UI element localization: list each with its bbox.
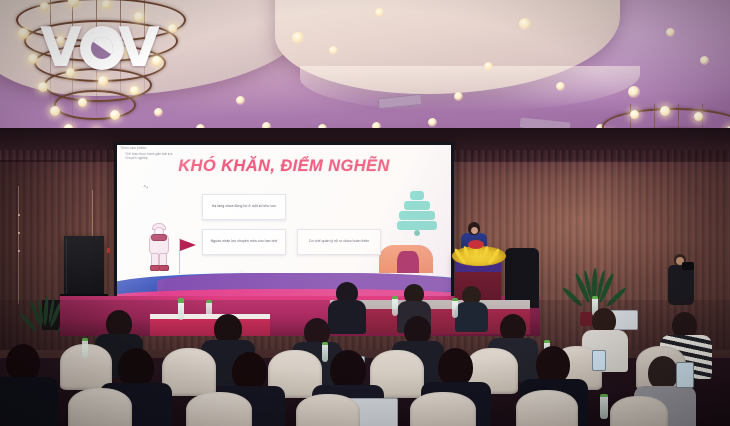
camera-icon bbox=[682, 262, 694, 270]
downlight bbox=[236, 96, 245, 105]
screen-glare bbox=[117, 145, 451, 299]
downlight bbox=[519, 18, 531, 30]
loudspeaker-top bbox=[64, 236, 104, 298]
chair bbox=[296, 394, 360, 426]
loudspeaker-seam bbox=[66, 238, 67, 296]
pendant-bead bbox=[18, 250, 20, 252]
photographer-body bbox=[668, 265, 694, 305]
downlight bbox=[700, 56, 709, 65]
podium-red-flowers bbox=[468, 240, 484, 249]
podium-flowers bbox=[452, 246, 506, 266]
downlight bbox=[428, 118, 437, 127]
downlight bbox=[666, 28, 675, 37]
downlight bbox=[484, 62, 493, 71]
vov-logo-letter-v2: V bbox=[118, 22, 160, 74]
downlight bbox=[329, 46, 338, 55]
smartphone[interactable] bbox=[592, 350, 606, 371]
stage-chair bbox=[505, 248, 539, 308]
water-bottle bbox=[392, 296, 398, 316]
vov-logo-letter-v1: V bbox=[40, 22, 82, 74]
water-bottle bbox=[82, 338, 88, 358]
pendant-cord bbox=[18, 186, 19, 304]
table-cloth bbox=[150, 314, 270, 319]
presentation-slide[interactable]: KHÓ KHĂN, ĐIỂM NGHẼN ∿ bbox=[117, 145, 451, 299]
chair bbox=[410, 392, 476, 426]
audience-area bbox=[0, 300, 730, 426]
screenshot-root: KHÓ KHĂN, ĐIỂM NGHẼN ∿ bbox=[0, 0, 730, 426]
downlight bbox=[628, 86, 640, 98]
presentation-screen-frame: KHÓ KHĂN, ĐIỂM NGHẼN ∿ bbox=[114, 142, 454, 302]
water-bottle bbox=[178, 300, 184, 320]
pendant-bead bbox=[18, 214, 20, 216]
downlight bbox=[556, 82, 565, 91]
chair bbox=[516, 390, 578, 426]
downlight bbox=[454, 92, 463, 101]
water-bottle bbox=[322, 342, 328, 362]
downlight bbox=[154, 108, 163, 117]
water-bottle bbox=[452, 298, 458, 318]
smartphone[interactable] bbox=[676, 362, 694, 388]
chair bbox=[186, 392, 252, 426]
downlight bbox=[375, 8, 384, 17]
chair bbox=[68, 388, 132, 426]
pendant-bead bbox=[18, 232, 20, 234]
chair bbox=[610, 396, 668, 426]
vov-logo: V V bbox=[40, 22, 170, 74]
ceiling-cove-light bbox=[300, 66, 640, 112]
water-bottle bbox=[600, 394, 608, 419]
downlight bbox=[292, 32, 304, 44]
loudspeaker-led bbox=[107, 248, 110, 253]
presenter-face bbox=[471, 227, 478, 234]
